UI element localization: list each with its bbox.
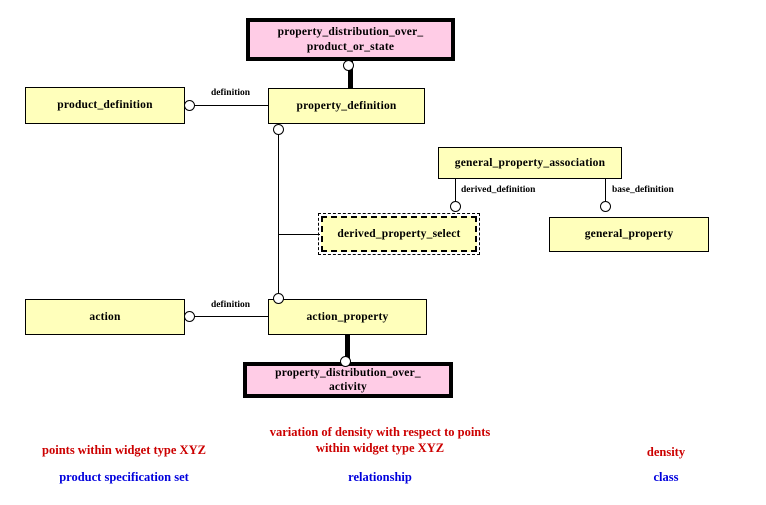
- connector-action-definition: [190, 316, 268, 317]
- relation-circle-derived-definition: [450, 201, 461, 212]
- relationship-label-base-definition: base_definition: [612, 185, 674, 195]
- caption-right-subtitle: class: [596, 469, 736, 485]
- entity-label: derived_property_select: [333, 227, 464, 241]
- relation-circle-distribution-product-state: [343, 60, 354, 71]
- connector-derived-property-branch: [278, 234, 320, 235]
- caption-center-role: variation of density with respect to poi…: [230, 424, 530, 457]
- relation-circle-action-definition: [184, 311, 195, 322]
- relationship-label-definition-action: definition: [211, 300, 250, 310]
- entity-label: general_property: [581, 227, 678, 241]
- connector-property-trunk: [278, 130, 279, 298]
- entity-label: action_property: [302, 310, 392, 324]
- entity-property-distribution-over-product-or-state[interactable]: property_distribution_over_ product_or_s…: [246, 18, 455, 61]
- entity-label: property_distribution_over_ product_or_s…: [274, 25, 428, 53]
- relation-circle-property-definition-down: [273, 124, 284, 135]
- entity-label: product_definition: [53, 98, 156, 112]
- connector-product-definition: [190, 105, 268, 106]
- caption-right-role: density: [596, 444, 736, 460]
- entity-action[interactable]: action: [25, 299, 185, 335]
- relation-circle-action-property-up: [273, 293, 284, 304]
- entity-general-property-association[interactable]: general_property_association: [438, 147, 622, 179]
- entity-label: general_property_association: [451, 156, 609, 170]
- entity-product-definition[interactable]: product_definition: [25, 87, 185, 124]
- caption-left-role: points within widget type XYZ: [0, 442, 248, 458]
- relation-circle-base-definition: [600, 201, 611, 212]
- entity-label: property_distribution_over_ activity: [271, 366, 425, 394]
- entity-general-property[interactable]: general_property: [549, 217, 709, 252]
- entity-property-definition[interactable]: property_definition: [268, 88, 425, 124]
- relation-circle-distribution-activity: [340, 356, 351, 367]
- entity-action-property[interactable]: action_property: [268, 299, 427, 335]
- relationship-label-definition-product: definition: [211, 88, 250, 98]
- relationship-label-derived-definition: derived_definition: [461, 185, 535, 195]
- caption-left-subtitle: product specification set: [0, 469, 248, 485]
- entity-label: property_definition: [292, 99, 400, 113]
- entity-label: action: [85, 310, 124, 324]
- entity-derived-property-select[interactable]: derived_property_select: [321, 216, 477, 252]
- caption-center-subtitle: relationship: [230, 469, 530, 485]
- entity-property-distribution-over-activity[interactable]: property_distribution_over_ activity: [243, 362, 453, 398]
- relation-circle-product-definition: [184, 100, 195, 111]
- express-g-diagram: definition derived_definition base_defin…: [0, 0, 766, 505]
